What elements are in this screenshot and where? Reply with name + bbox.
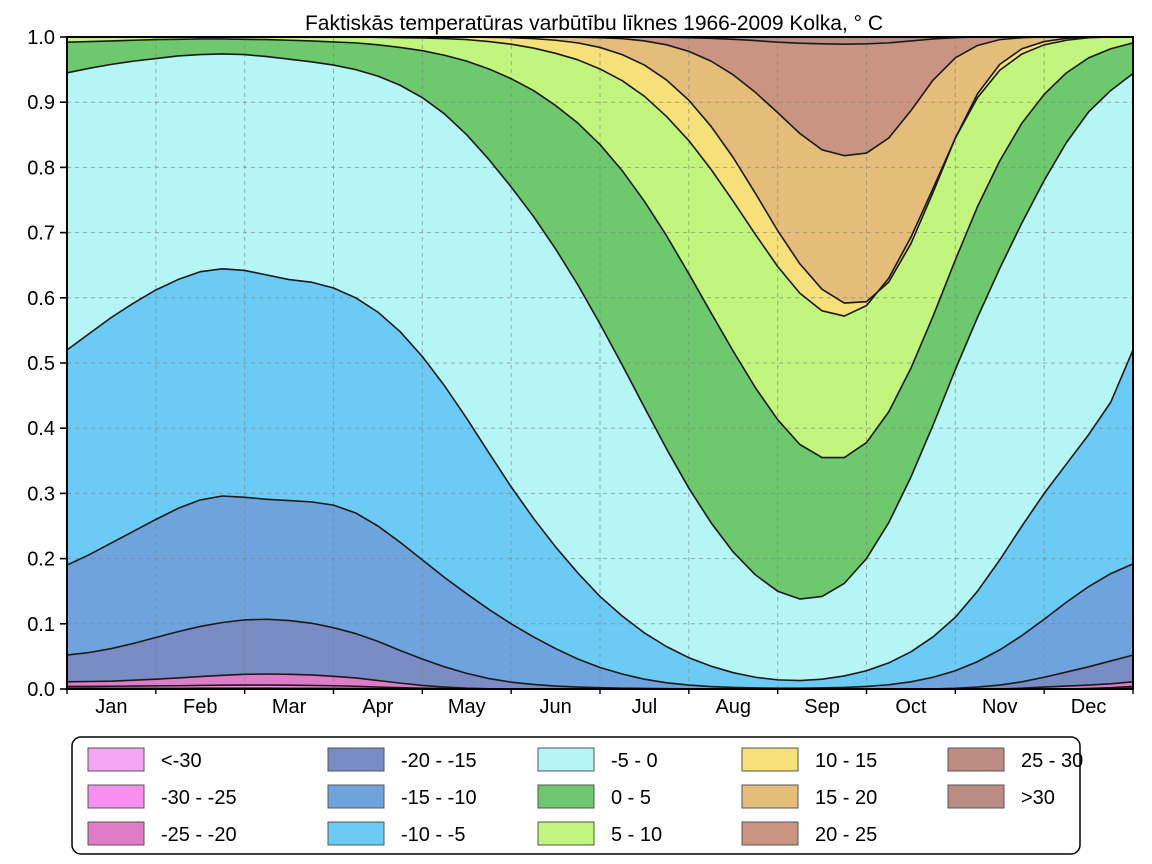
y-tick-label: 0.5: [27, 353, 55, 375]
x-tick-label: Nov: [982, 696, 1018, 718]
legend-label: -10 - -5: [401, 824, 465, 846]
x-tick-label: Mar: [272, 696, 307, 718]
x-tick-label: May: [448, 696, 486, 718]
legend-swatch: [328, 822, 384, 845]
chart-title: Faktiskās temperatūras varbūtību līknes …: [305, 12, 883, 35]
legend-swatch: [328, 785, 384, 808]
legend-swatch: [538, 785, 594, 808]
legend-swatch: [88, 748, 144, 771]
legend-swatch: [538, 748, 594, 771]
legend-label: <-30: [161, 750, 202, 772]
legend-swatch: [742, 748, 798, 771]
legend-label: 20 - 25: [815, 824, 877, 846]
x-tick-label: Jul: [632, 696, 658, 718]
x-tick-label: Jan: [95, 696, 127, 718]
x-tick-label: Feb: [183, 696, 217, 718]
y-tick-label: 0.4: [27, 418, 55, 440]
legend-label: -20 - -15: [401, 750, 477, 772]
y-tick-label: 0.0: [27, 679, 55, 701]
y-tick-label: 0.7: [27, 223, 55, 245]
x-tick-label: Oct: [895, 696, 927, 718]
legend-label: -30 - -25: [161, 787, 237, 809]
y-tick-label: 0.9: [27, 92, 55, 114]
chart-page: Faktiskās temperatūras varbūtību līknes …: [0, 0, 1152, 864]
legend-label: 10 - 15: [815, 750, 877, 772]
x-tick-label: Aug: [715, 696, 751, 718]
legend-label: 0 - 5: [611, 787, 651, 809]
plot-area: [67, 37, 1133, 689]
legend-swatch: [88, 785, 144, 808]
y-tick-label: 0.3: [27, 483, 55, 505]
y-tick-label: 0.6: [27, 288, 55, 310]
y-tick-label: 0.8: [27, 157, 55, 179]
legend-label: 15 - 20: [815, 787, 877, 809]
probability-curves-chart: Faktiskās temperatūras varbūtību līknes …: [0, 0, 1152, 864]
legend-label: >30: [1021, 787, 1055, 809]
x-tick-label: Sep: [804, 696, 840, 718]
legend-label: -15 - -10: [401, 787, 477, 809]
legend-label: 5 - 10: [611, 824, 662, 846]
y-tick-label: 0.1: [27, 614, 55, 636]
legend-swatch: [742, 822, 798, 845]
chart-legend: <-30-30 - -25-25 - -20-20 - -15-15 - -10…: [72, 737, 1083, 854]
x-tick-label: Jun: [539, 696, 571, 718]
legend-label: -25 - -20: [161, 824, 237, 846]
x-tick-label: Dec: [1071, 696, 1107, 718]
legend-swatch: [538, 822, 594, 845]
legend-label: -5 - 0: [611, 750, 658, 772]
legend-label: 25 - 30: [1021, 750, 1083, 772]
legend-swatch: [948, 748, 1004, 771]
legend-swatch: [88, 822, 144, 845]
legend-swatch: [742, 785, 798, 808]
y-tick-label: 1.0: [27, 27, 55, 49]
y-tick-label: 0.2: [27, 549, 55, 571]
legend-swatch: [328, 748, 384, 771]
x-tick-label: Apr: [362, 696, 393, 718]
legend-swatch: [948, 785, 1004, 808]
